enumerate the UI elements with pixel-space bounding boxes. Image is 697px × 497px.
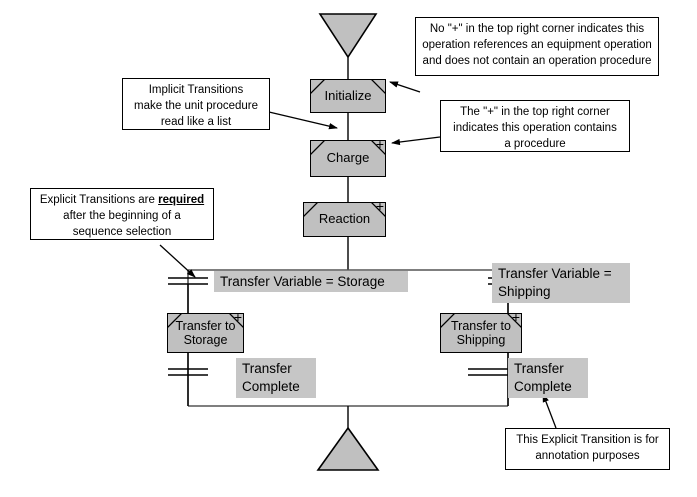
operation-box-initialize[interactable]: Initialize	[310, 79, 386, 113]
operation-label: Transfer to Storage	[168, 319, 243, 347]
note-line: operation references an equipment operat…	[422, 38, 652, 54]
leader-note-plus	[392, 137, 440, 143]
operation-label: Initialize	[323, 89, 374, 104]
note-annotation-purposes: This Explicit Transition is for annotati…	[505, 428, 670, 470]
procedure-plus-icon: +	[376, 200, 384, 212]
note-line: read like a list	[129, 115, 263, 131]
note-plus: The "+" in the top right corner indicate…	[440, 100, 630, 152]
transition-label-line-1: Transfer	[242, 361, 292, 376]
operation-box-transfer-to-storage[interactable]: + Transfer to Storage	[167, 313, 244, 353]
note-text-emphasis: required	[158, 194, 204, 206]
leader-note-implicit	[269, 112, 337, 128]
note-line: and does not contain an operation proced…	[422, 54, 652, 70]
operation-label: Reaction	[317, 212, 372, 227]
note-line: This Explicit Transition is for	[512, 433, 663, 449]
leader-note-annotation	[543, 394, 556, 428]
note-line: Explicit Transitions are required	[37, 193, 207, 209]
operation-box-transfer-to-shipping[interactable]: + Transfer to Shipping	[440, 313, 522, 353]
bevel-top-right-icon	[371, 202, 386, 217]
leader-note-no-plus	[390, 82, 420, 92]
note-line: No "+" in the top right corner indicates…	[422, 22, 652, 38]
note-line: sequence selection	[37, 225, 207, 241]
end-triangle-icon	[318, 428, 378, 470]
sfc-diagram-canvas: Initialize + Charge + Reaction + Transfe…	[0, 0, 697, 497]
note-line: indicates this operation contains	[447, 121, 623, 137]
operation-box-charge[interactable]: + Charge	[310, 140, 386, 177]
note-line: after the beginning of a	[37, 209, 207, 225]
procedure-plus-icon: +	[376, 138, 384, 150]
note-no-plus: No "+" in the top right corner indicates…	[415, 17, 659, 76]
operation-label: Transfer to Shipping	[441, 319, 521, 347]
note-line: a procedure	[447, 137, 623, 153]
note-line: The "+" in the top right corner	[447, 105, 623, 121]
transition-label-transfer-variable-shipping: Transfer Variable = Shipping	[492, 263, 630, 303]
start-triangle-icon	[320, 14, 376, 57]
transition-label-line-2: Complete	[242, 379, 300, 394]
transition-label-transfer-complete-storage: Transfer Complete	[236, 358, 316, 398]
transition-label-line-2: Complete	[514, 379, 572, 394]
transition-label-line-1: Transfer	[514, 361, 564, 376]
transition-label-transfer-variable-storage: Transfer Variable = Storage	[214, 271, 408, 292]
transition-label-transfer-complete-shipping: Transfer Complete	[508, 358, 588, 398]
transition-label-line-2: Shipping	[498, 284, 551, 299]
bevel-top-left-icon	[303, 202, 318, 217]
bevel-top-left-icon	[310, 140, 325, 155]
note-implicit-transitions: Implicit Transitions make the unit proce…	[122, 78, 270, 130]
note-line: make the unit procedure	[129, 99, 263, 115]
note-line: Implicit Transitions	[129, 83, 263, 99]
operation-label: Charge	[325, 151, 372, 166]
leader-note-explicit-required	[160, 245, 195, 277]
operation-box-reaction[interactable]: + Reaction	[303, 202, 386, 237]
note-text-normal: Explicit Transitions are	[40, 194, 158, 206]
transition-label-line-1: Transfer Variable =	[498, 266, 612, 281]
bevel-top-right-icon	[371, 140, 386, 155]
note-line: annotation purposes	[512, 449, 663, 465]
note-explicit-required: Explicit Transitions are required after …	[30, 188, 214, 240]
